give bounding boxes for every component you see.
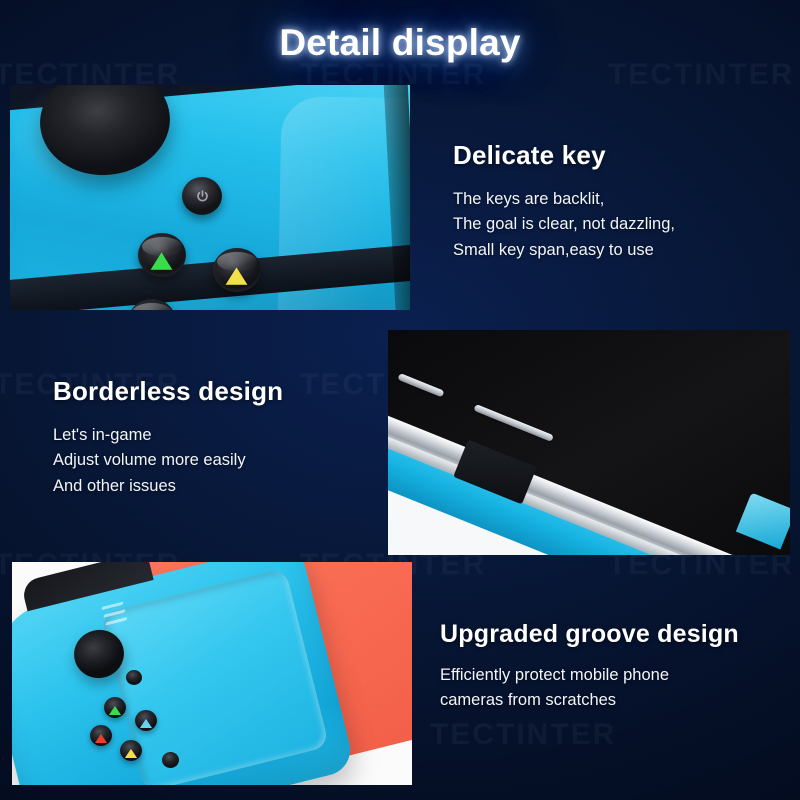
select-button (162, 752, 179, 768)
section-heading: Borderless design (53, 376, 383, 407)
photo-gamepad-groove-angle (12, 562, 412, 785)
detail-display-page: TECTINTER TECTINTER TECTINTER TECTINTER … (0, 0, 800, 800)
power-icon (126, 670, 142, 685)
section-borderless-design: Borderless design Let's in-game Adjust v… (53, 376, 383, 499)
button-b (120, 740, 142, 761)
section-upgraded-groove-design: Upgraded groove design Efficiently prote… (440, 620, 790, 714)
watermark: TECTINTER (430, 718, 616, 752)
button-b (213, 248, 261, 292)
section-line: Let's in-game (53, 423, 383, 448)
button-d (135, 710, 157, 731)
section-line: The goal is clear, not dazzling, (453, 212, 783, 237)
section-delicate-key: Delicate key The keys are backlit, The g… (453, 140, 783, 263)
section-line: Efficiently protect mobile phone (440, 663, 790, 688)
button-a (104, 697, 126, 718)
section-line: The keys are backlit, (453, 187, 783, 212)
section-line: Adjust volume more easily (53, 448, 383, 473)
section-heading: Delicate key (453, 140, 783, 171)
section-heading: Upgraded groove design (440, 620, 790, 649)
button-c (90, 725, 112, 746)
power-icon (182, 177, 222, 215)
section-line: Small key span,easy to use (453, 238, 783, 263)
button-a (138, 233, 186, 277)
photo-phone-edge-volume-buttons (388, 330, 790, 555)
section-line: And other issues (53, 474, 383, 499)
section-line: cameras from scratches (440, 688, 790, 713)
photo-controller-keys-closeup: SEL (10, 85, 410, 310)
page-title: Detail display (0, 22, 800, 64)
